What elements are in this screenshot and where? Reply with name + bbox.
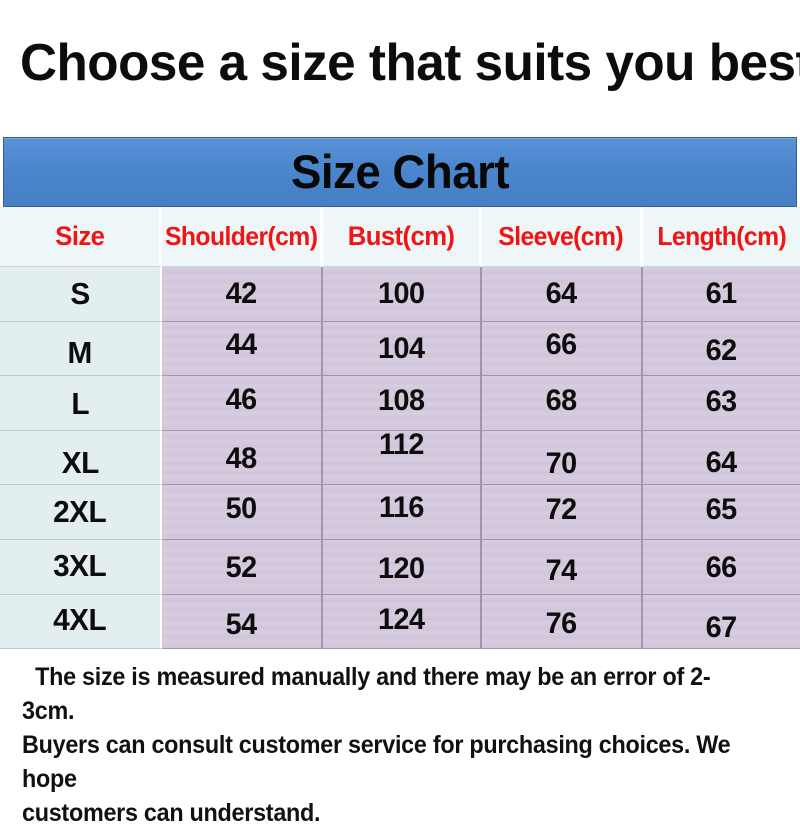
cell-value: XL xyxy=(61,445,98,481)
cell-value: 63 xyxy=(706,385,737,419)
cell-size: XL xyxy=(0,431,162,486)
cell-bust: 124 xyxy=(323,595,482,650)
cell-value: 70 xyxy=(546,447,577,481)
cell-value: 44 xyxy=(226,328,257,362)
cell-bust: 108 xyxy=(323,376,482,431)
cell-value: 48 xyxy=(226,442,257,476)
cell-size: L xyxy=(0,376,162,431)
cell-size: 3XL xyxy=(0,540,162,595)
cell-shoulder: 52 xyxy=(162,540,323,595)
table-row: 3XL 52 120 74 66 xyxy=(0,540,800,595)
disclaimer-line-2: Buyers can consult customer service for … xyxy=(22,728,740,796)
cell-value: 116 xyxy=(379,491,424,525)
size-chart-table: Size Chart Size Shoulder(cm) Bust(cm) Sl… xyxy=(0,137,800,650)
cell-sleeve: 76 xyxy=(482,595,643,650)
column-header-label: Length(cm) xyxy=(657,221,786,252)
size-chart-page: Choose a size that suits you best Size C… xyxy=(0,0,800,800)
chart-title-band: Size Chart xyxy=(3,137,797,207)
cell-value: 124 xyxy=(378,603,425,637)
column-header-size: Size xyxy=(0,207,162,267)
cell-value: 100 xyxy=(378,277,425,311)
cell-value: 108 xyxy=(378,384,425,418)
disclaimer-line-3: customers can understand. xyxy=(22,796,740,830)
cell-shoulder: 44 xyxy=(162,322,323,377)
cell-value: 66 xyxy=(546,328,577,362)
cell-value: 2XL xyxy=(53,494,106,530)
cell-value: 112 xyxy=(379,431,424,462)
cell-value: 50 xyxy=(226,492,257,526)
table-row: L 46 108 68 63 xyxy=(0,376,800,431)
cell-value: S xyxy=(70,276,89,312)
table-row: XL 48 112 70 64 xyxy=(0,431,800,486)
chart-title: Size Chart xyxy=(16,138,784,208)
column-header-length: Length(cm) xyxy=(643,207,800,267)
cell-size: 4XL xyxy=(0,595,162,650)
cell-value: 72 xyxy=(546,493,577,527)
cell-value: 64 xyxy=(706,446,737,480)
cell-sleeve: 70 xyxy=(482,431,643,486)
disclaimer-line-1: The size is measured manually and there … xyxy=(22,660,740,728)
cell-length: 63 xyxy=(643,376,800,431)
cell-value: 67 xyxy=(706,611,737,645)
cell-sleeve: 64 xyxy=(482,267,643,322)
cell-bust: 112 xyxy=(323,431,482,486)
cell-bust: 104 xyxy=(323,322,482,377)
cell-length: 66 xyxy=(643,540,800,595)
cell-value: 4XL xyxy=(53,602,106,638)
table-row: S 42 100 64 61 xyxy=(0,267,800,322)
cell-shoulder: 48 xyxy=(162,431,323,486)
cell-size: 2XL xyxy=(0,485,162,540)
cell-sleeve: 68 xyxy=(482,376,643,431)
cell-length: 62 xyxy=(643,322,800,377)
page-title: Choose a size that suits you best xyxy=(20,33,778,95)
cell-sleeve: 74 xyxy=(482,540,643,595)
cell-value: 46 xyxy=(226,383,257,417)
cell-value: 52 xyxy=(226,551,257,585)
column-header-label: Sleeve(cm) xyxy=(499,221,624,252)
cell-shoulder: 50 xyxy=(162,485,323,540)
cell-length: 65 xyxy=(643,485,800,540)
cell-size: S xyxy=(0,267,162,322)
column-header-shoulder: Shoulder(cm) xyxy=(162,207,323,267)
column-header-label: Size xyxy=(55,221,104,252)
cell-shoulder: 46 xyxy=(162,376,323,431)
cell-value: 74 xyxy=(546,554,577,588)
cell-value: 68 xyxy=(546,384,577,418)
cell-value: 66 xyxy=(706,551,737,585)
cell-size: M xyxy=(0,322,162,377)
cell-length: 61 xyxy=(643,267,800,322)
cell-bust: 120 xyxy=(323,540,482,595)
cell-sleeve: 66 xyxy=(482,322,643,377)
measurement-disclaimer: The size is measured manually and there … xyxy=(22,660,740,830)
cell-length: 64 xyxy=(643,431,800,486)
column-header-label: Bust(cm) xyxy=(348,221,455,252)
cell-value: 42 xyxy=(226,277,257,311)
table-header-row: Size Shoulder(cm) Bust(cm) Sleeve(cm) Le… xyxy=(0,207,800,267)
table-row: 4XL 54 124 76 67 xyxy=(0,595,800,650)
cell-value: 64 xyxy=(546,277,577,311)
cell-value: 3XL xyxy=(53,548,106,584)
column-header-sleeve: Sleeve(cm) xyxy=(482,207,643,267)
cell-value: L xyxy=(71,386,89,422)
cell-sleeve: 72 xyxy=(482,485,643,540)
cell-length: 67 xyxy=(643,595,800,650)
cell-value: 62 xyxy=(706,334,737,368)
cell-value: 61 xyxy=(706,277,737,311)
cell-value: 104 xyxy=(378,332,425,366)
cell-shoulder: 54 xyxy=(162,595,323,650)
cell-value: 54 xyxy=(226,608,257,642)
cell-value: 65 xyxy=(706,493,737,527)
column-header-label: Shoulder(cm) xyxy=(165,221,317,252)
table-row: M 44 104 66 62 xyxy=(0,322,800,377)
table-grid: Size Shoulder(cm) Bust(cm) Sleeve(cm) Le… xyxy=(0,207,800,650)
cell-bust: 100 xyxy=(323,267,482,322)
cell-bust: 116 xyxy=(323,485,482,540)
column-header-bust: Bust(cm) xyxy=(323,207,482,267)
table-row: 2XL 50 116 72 65 xyxy=(0,485,800,540)
cell-shoulder: 42 xyxy=(162,267,323,322)
cell-value: 76 xyxy=(546,607,577,641)
cell-value: M xyxy=(68,335,92,371)
cell-value: 120 xyxy=(378,552,425,586)
